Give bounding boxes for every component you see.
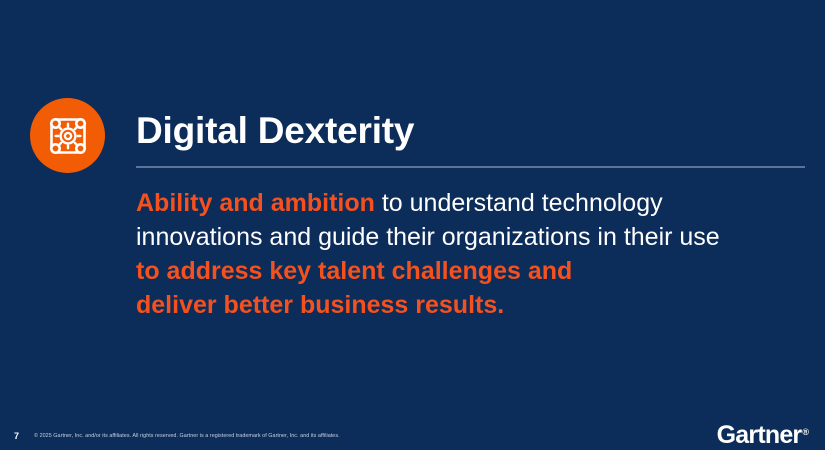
body-line-1: Ability and ambition to understand techn… — [136, 186, 816, 220]
copyright-notice: © 2025 Gartner, Inc. and/or its affiliat… — [34, 431, 340, 441]
body-accent-phrase: Ability and ambition — [136, 189, 375, 217]
slide-number: 7 — [14, 430, 19, 442]
registered-trademark-icon: ® — [802, 418, 809, 446]
title-divider — [136, 166, 805, 168]
body-line-1-rest: to understand technology — [375, 189, 663, 217]
body-line-2: innovations and guide their organization… — [136, 220, 816, 254]
gear-network-icon — [44, 112, 92, 160]
gartner-logo-text: Gartner — [717, 421, 802, 449]
body-copy: Ability and ambition to understand techn… — [136, 186, 816, 322]
gear-network-icon-badge — [30, 98, 105, 173]
page-title: Digital Dexterity — [136, 108, 414, 153]
gartner-logo: Gartner ® — [717, 418, 809, 449]
body-line-4: deliver better business results. — [136, 288, 816, 322]
body-line-3: to address key talent challenges and — [136, 254, 816, 288]
slide-canvas: Digital Dexterity Ability and ambition t… — [0, 0, 825, 450]
